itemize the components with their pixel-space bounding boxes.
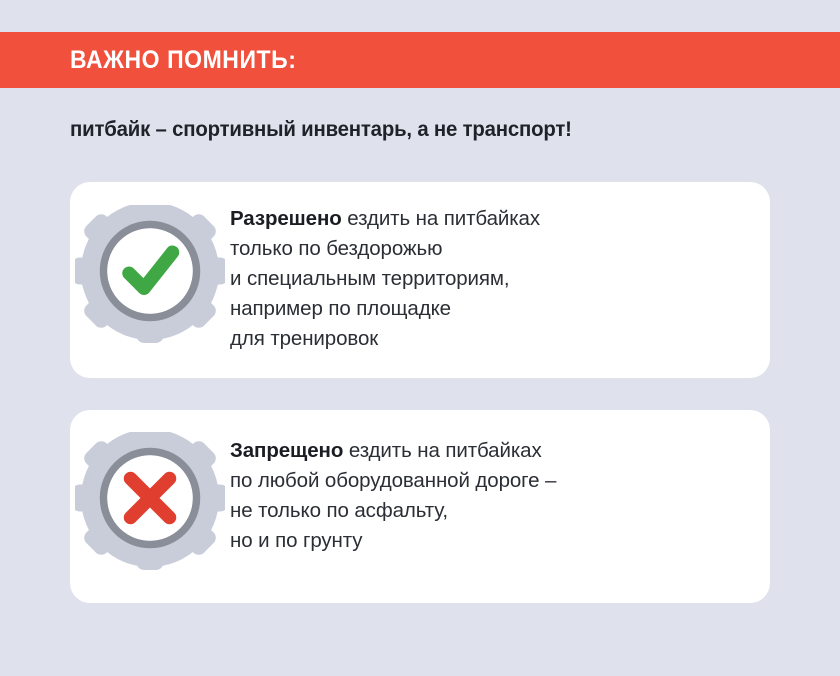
card-forbidden-lead: Запрещено: [230, 439, 343, 462]
gear-cross-icon: [70, 432, 230, 582]
card-allowed-line-3: например по площадке: [230, 294, 750, 324]
page-subtitle: питбайк – спортивный инвентарь, а не тра…: [70, 118, 788, 142]
card-forbidden-text: Запрещено ездить на питбайках по любой о…: [230, 410, 770, 556]
gear-check-icon: [70, 205, 230, 355]
card-allowed-line-1: только по бездорожью: [230, 234, 750, 264]
card-forbidden: Запрещено ездить на питбайках по любой о…: [70, 410, 770, 603]
card-forbidden-line-2: не только по асфальту,: [230, 496, 750, 526]
card-forbidden-line-1: по любой оборудованной дороге –: [230, 466, 750, 496]
card-allowed-line-2: и специальным территориям,: [230, 264, 750, 294]
card-allowed-text: Разрешено ездить на питбайках только по …: [230, 182, 770, 354]
card-forbidden-line-3: но и по грунту: [230, 526, 750, 556]
card-forbidden-line-0-rest: ездить на питбайках: [343, 439, 541, 462]
banner-title: ВАЖНО ПОМНИТЬ:: [70, 46, 296, 75]
card-allowed-line-0: Разрешено ездить на питбайках: [230, 204, 750, 234]
card-allowed-line-0-rest: ездить на питбайках: [342, 207, 540, 230]
card-forbidden-line-0: Запрещено ездить на питбайках: [230, 436, 750, 466]
infographic-page: ВАЖНО ПОМНИТЬ: питбайк – спортивный инве…: [0, 0, 840, 676]
card-allowed-line-4: для тренировок: [230, 324, 750, 354]
card-allowed: Разрешено ездить на питбайках только по …: [70, 182, 770, 378]
card-allowed-lead: Разрешено: [230, 207, 342, 230]
header-banner: ВАЖНО ПОМНИТЬ:: [0, 32, 840, 88]
